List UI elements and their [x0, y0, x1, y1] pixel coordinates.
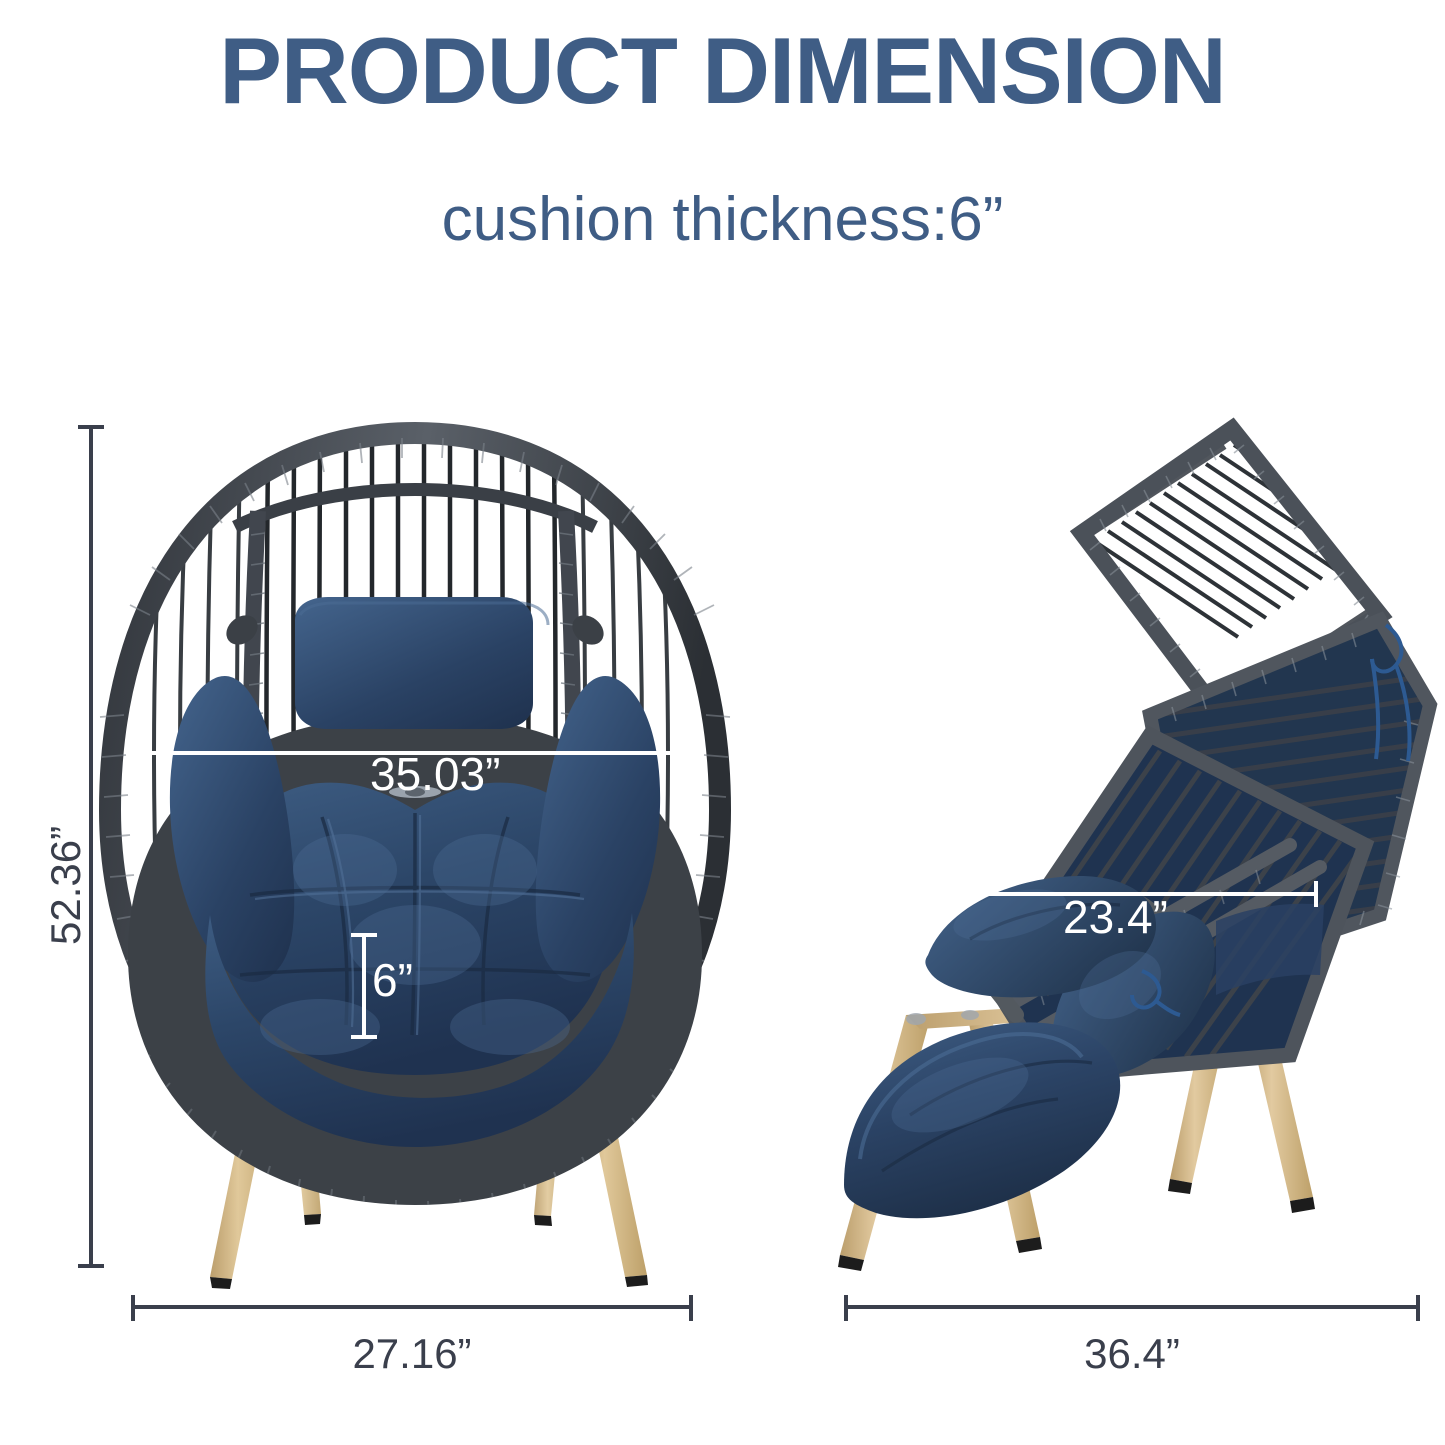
page-subtitle: cushion thickness:6” [0, 186, 1445, 254]
dimension-width-line [131, 1305, 693, 1309]
dimension-seat-depth-right-tick [1314, 881, 1318, 907]
headrest-pillow [295, 597, 533, 729]
dimension-interior-width-right-tick [670, 740, 674, 766]
dimension-depth-line [844, 1305, 1420, 1309]
dimension-height-bottom-tick [78, 1264, 104, 1268]
side-view-chair-image [820, 415, 1440, 1295]
product-dimension-infographic: PRODUCT DIMENSION cushion thickness:6” [0, 0, 1445, 1445]
dimension-height-label: 52.36” [42, 826, 90, 945]
dimension-thickness-bottom-tick [351, 1035, 377, 1039]
dimension-thickness-label: 6” [372, 953, 413, 1007]
dimension-seat-depth-label: 23.4” [1063, 890, 1168, 944]
dimension-depth-right-tick [1416, 1295, 1420, 1321]
dimension-width-label: 27.16” [0, 1330, 824, 1378]
dimension-depth-label: 36.4” [844, 1330, 1420, 1378]
dimension-thickness-line [362, 933, 366, 1039]
dimension-interior-width-label: 35.03” [370, 747, 500, 801]
page-title: PRODUCT DIMENSION [0, 22, 1445, 121]
dimension-width-right-tick [689, 1295, 693, 1321]
front-view-chair-image [90, 415, 740, 1295]
